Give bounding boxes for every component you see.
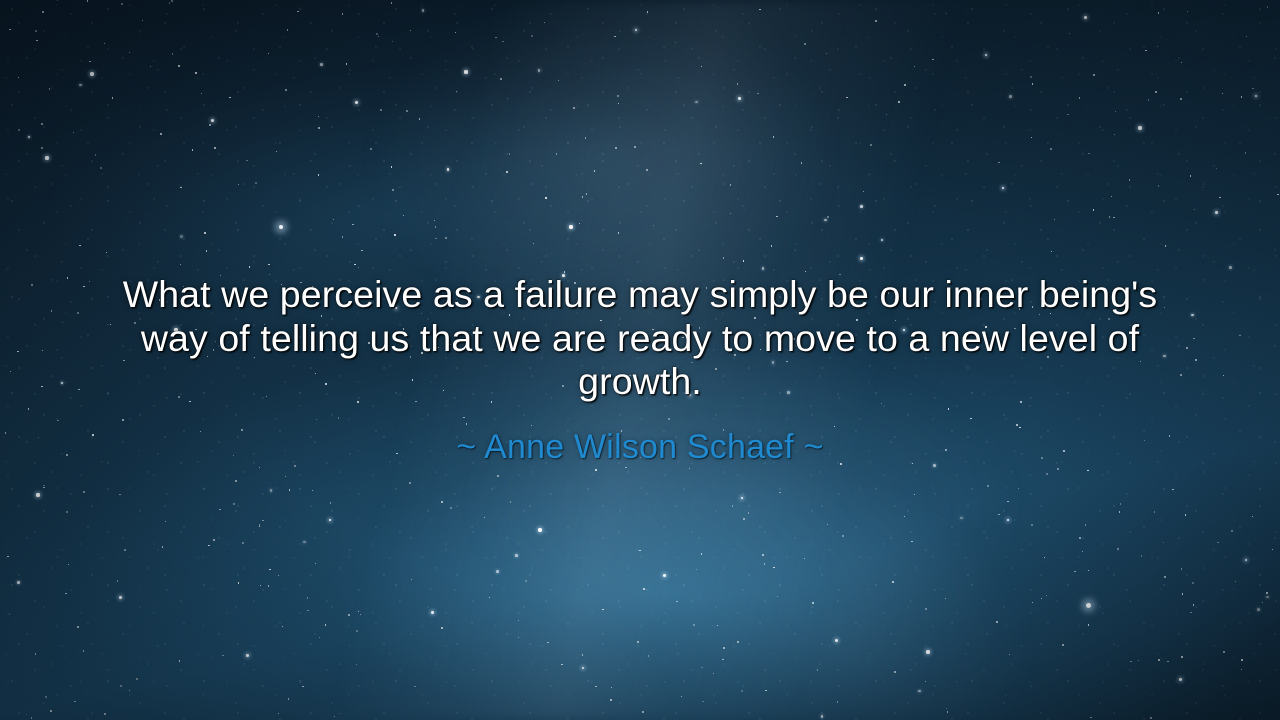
- star: [757, 93, 758, 94]
- star: [748, 512, 749, 513]
- star: [79, 84, 82, 87]
- star: [376, 33, 378, 35]
- star: [538, 69, 541, 72]
- star: [411, 579, 412, 580]
- star: [732, 505, 733, 506]
- star: [898, 101, 899, 102]
- star: [90, 72, 94, 76]
- star: [392, 189, 393, 190]
- star: [441, 501, 442, 502]
- star: [355, 101, 358, 104]
- star: [743, 518, 745, 520]
- star: [222, 655, 223, 656]
- star: [209, 124, 211, 126]
- star: [1148, 99, 1149, 100]
- star: [1002, 187, 1005, 190]
- star: [625, 467, 626, 468]
- star: [219, 509, 220, 510]
- star: [204, 232, 205, 233]
- star: [43, 485, 44, 486]
- star: [233, 503, 234, 504]
- quote-block: What we perceive as a failure may simply…: [0, 273, 1280, 467]
- star: [610, 699, 611, 700]
- star: [911, 541, 912, 542]
- star: [1217, 542, 1218, 543]
- star: [41, 123, 42, 124]
- star: [119, 494, 120, 495]
- star: [1187, 11, 1188, 12]
- star: [1051, 251, 1052, 252]
- star: [1231, 530, 1233, 532]
- star: [83, 491, 85, 493]
- star: [1157, 46, 1158, 47]
- star: [441, 627, 443, 629]
- star: [242, 542, 244, 544]
- star: [1267, 6, 1268, 7]
- star: [573, 107, 575, 109]
- star: [518, 620, 519, 621]
- star: [614, 36, 615, 37]
- star: [1192, 582, 1193, 583]
- star: [229, 97, 230, 98]
- star: [1181, 656, 1182, 657]
- star: [171, 0, 172, 1]
- star: [723, 647, 725, 649]
- star: [525, 580, 527, 582]
- star: [100, 167, 102, 169]
- quote-slide: What we perceive as a failure may simply…: [0, 0, 1280, 720]
- star: [307, 610, 308, 611]
- star: [41, 147, 43, 149]
- star: [538, 528, 541, 531]
- star: [172, 53, 173, 54]
- star: [17, 581, 20, 584]
- star: [881, 239, 884, 242]
- star: [643, 588, 645, 590]
- star: [391, 166, 392, 167]
- star: [634, 146, 635, 147]
- star: [801, 162, 802, 163]
- star: [50, 710, 52, 712]
- star: [582, 667, 585, 670]
- star: [1172, 489, 1173, 490]
- star: [741, 690, 743, 692]
- star: [95, 154, 96, 155]
- star: [1007, 519, 1010, 522]
- star: [43, 487, 44, 488]
- star: [639, 550, 640, 551]
- star: [531, 35, 533, 37]
- star: [150, 66, 151, 67]
- star: [356, 664, 357, 665]
- star: [1241, 96, 1242, 97]
- star: [569, 225, 572, 228]
- star: [1193, 604, 1194, 605]
- star: [1062, 644, 1064, 646]
- star: [1229, 266, 1232, 269]
- star: [422, 9, 425, 12]
- star: [509, 153, 510, 154]
- star: [701, 66, 702, 67]
- star: [737, 83, 738, 84]
- star: [1190, 612, 1191, 613]
- star: [1079, 537, 1081, 539]
- star: [270, 489, 273, 492]
- star: [1086, 603, 1091, 608]
- star: [737, 641, 739, 643]
- star: [635, 29, 638, 32]
- star: [1277, 194, 1278, 195]
- star: [827, 216, 828, 217]
- star: [178, 65, 179, 66]
- star: [180, 264, 181, 265]
- star: [259, 467, 260, 468]
- star: [985, 54, 988, 57]
- star: [558, 80, 559, 81]
- star: [730, 184, 731, 185]
- star: [45, 696, 46, 697]
- star: [926, 650, 929, 653]
- star: [507, 98, 508, 99]
- star: [932, 59, 933, 60]
- star: [192, 149, 193, 150]
- star: [804, 43, 806, 45]
- star: [777, 596, 778, 597]
- star: [925, 608, 926, 609]
- star: [647, 11, 648, 12]
- star: [1054, 219, 1055, 220]
- star: [618, 232, 619, 233]
- star: [875, 20, 877, 22]
- star: [235, 480, 236, 481]
- star: [495, 37, 496, 38]
- star: [287, 29, 288, 30]
- star: [1090, 717, 1091, 718]
- star: [1245, 559, 1248, 562]
- star: [35, 30, 37, 32]
- star: [1219, 197, 1220, 198]
- star: [846, 97, 847, 98]
- star: [1255, 95, 1258, 98]
- star: [1088, 153, 1089, 154]
- star: [307, 597, 308, 598]
- star: [681, 696, 682, 697]
- star: [1180, 98, 1182, 100]
- star: [9, 614, 10, 615]
- star: [57, 0, 58, 1]
- star: [330, 502, 331, 503]
- star: [544, 22, 545, 23]
- star: [68, 564, 69, 565]
- star: [120, 685, 121, 686]
- star: [582, 654, 583, 655]
- star: [278, 575, 279, 576]
- star: [1194, 209, 1195, 210]
- star: [1190, 175, 1191, 176]
- star: [352, 224, 353, 225]
- star: [701, 667, 702, 668]
- star: [1119, 511, 1120, 512]
- star: [249, 266, 250, 267]
- star: [356, 630, 358, 632]
- star: [1163, 542, 1164, 543]
- star: [762, 554, 764, 556]
- star: [162, 546, 163, 547]
- star: [738, 97, 741, 100]
- star: [1241, 659, 1242, 660]
- star: [1030, 76, 1032, 78]
- star: [713, 673, 714, 674]
- star: [1088, 624, 1089, 625]
- star: [1257, 608, 1260, 611]
- star: [1216, 168, 1217, 169]
- star: [826, 53, 827, 54]
- star: [201, 93, 202, 94]
- star: [419, 118, 420, 119]
- star: [762, 267, 765, 270]
- star: [282, 626, 283, 627]
- star: [1046, 473, 1047, 474]
- star: [702, 701, 703, 702]
- star: [289, 489, 290, 490]
- star: [894, 671, 896, 673]
- star: [180, 235, 183, 238]
- star: [717, 625, 718, 626]
- star: [827, 524, 828, 525]
- star: [238, 582, 239, 583]
- star: [1120, 503, 1121, 504]
- star: [79, 245, 80, 246]
- star: [1150, 717, 1151, 718]
- star: [238, 184, 239, 185]
- star: [1266, 596, 1269, 599]
- star: [342, 236, 343, 237]
- star: [1215, 211, 1218, 214]
- star: [409, 482, 410, 483]
- star: [764, 563, 765, 564]
- star: [414, 686, 415, 687]
- star: [946, 708, 947, 709]
- star: [1158, 185, 1159, 186]
- star: [87, 0, 88, 1]
- star: [378, 36, 379, 37]
- star: [370, 148, 371, 149]
- star: [259, 526, 260, 527]
- star: [1082, 551, 1083, 552]
- star: [1041, 598, 1042, 599]
- star: [391, 2, 392, 3]
- star: [870, 144, 872, 146]
- star: [533, 243, 534, 244]
- star: [1181, 568, 1182, 569]
- star: [1181, 62, 1182, 63]
- star: [142, 20, 143, 21]
- star: [730, 213, 731, 214]
- star: [1154, 511, 1155, 512]
- star: [318, 127, 320, 129]
- star: [334, 716, 335, 717]
- star: [403, 215, 404, 216]
- star: [312, 490, 313, 491]
- quote-attribution: ~ Anne Wilson Schaef ~: [0, 427, 1280, 467]
- star: [594, 170, 595, 171]
- star: [585, 137, 586, 138]
- star: [269, 569, 270, 570]
- star: [1117, 548, 1119, 550]
- star: [675, 42, 676, 43]
- star: [66, 511, 68, 513]
- star: [502, 41, 503, 42]
- star: [1158, 659, 1160, 661]
- star: [318, 116, 319, 117]
- star: [556, 153, 557, 154]
- star: [611, 687, 612, 688]
- star: [360, 614, 361, 615]
- star: [1067, 114, 1068, 115]
- star: [701, 553, 702, 554]
- star: [136, 678, 137, 679]
- star: [255, 182, 257, 184]
- star: [288, 698, 289, 699]
- star: [484, 517, 485, 518]
- star: [515, 554, 518, 557]
- star: [104, 43, 105, 44]
- star: [104, 713, 106, 715]
- star: [1093, 74, 1094, 75]
- star: [1009, 654, 1010, 655]
- star: [722, 659, 723, 660]
- star: [617, 95, 618, 96]
- star: [561, 664, 562, 665]
- star: [358, 611, 359, 612]
- star: [1185, 514, 1186, 515]
- star: [1057, 468, 1059, 470]
- star: [1074, 571, 1075, 572]
- star: [83, 650, 84, 651]
- star: [960, 517, 963, 520]
- star: [1241, 669, 1242, 670]
- star: [904, 516, 905, 517]
- star: [1032, 83, 1033, 84]
- star: [1165, 245, 1166, 246]
- star: [45, 156, 48, 159]
- star: [1032, 602, 1033, 603]
- star: [165, 521, 166, 522]
- star: [595, 686, 596, 687]
- star: [206, 250, 207, 251]
- star: [860, 205, 863, 208]
- star: [74, 701, 75, 702]
- star: [117, 580, 118, 581]
- star: [329, 519, 332, 522]
- star: [1031, 137, 1032, 138]
- star: [89, 61, 90, 62]
- star: [586, 193, 587, 194]
- star: [1138, 660, 1139, 661]
- star: [1235, 581, 1236, 582]
- star: [214, 147, 216, 149]
- star: [319, 637, 320, 638]
- star: [812, 602, 814, 604]
- star: [1079, 97, 1080, 98]
- star: [914, 66, 915, 67]
- star: [835, 639, 838, 642]
- star: [318, 174, 319, 175]
- star: [489, 597, 490, 598]
- star: [663, 574, 666, 577]
- star: [380, 109, 382, 111]
- star: [392, 41, 393, 42]
- star: [1252, 516, 1253, 517]
- star: [112, 97, 113, 98]
- star: [918, 690, 921, 693]
- star: [615, 147, 616, 148]
- star: [947, 711, 948, 712]
- star: [1222, 93, 1223, 94]
- star: [1129, 179, 1130, 180]
- star: [346, 63, 347, 64]
- star: [723, 257, 724, 258]
- star: [49, 88, 50, 89]
- star: [892, 581, 894, 583]
- star: [996, 621, 998, 623]
- star: [410, 30, 411, 31]
- star: [618, 103, 619, 104]
- star: [195, 72, 196, 73]
- star: [693, 624, 695, 626]
- star: [315, 563, 316, 564]
- star: [500, 78, 502, 80]
- star: [65, 593, 66, 594]
- star: [1031, 524, 1032, 525]
- star: [1130, 661, 1131, 662]
- star: [1046, 595, 1047, 596]
- star: [595, 469, 596, 470]
- star: [179, 660, 180, 661]
- star: [456, 91, 457, 92]
- star: [914, 494, 915, 495]
- star: [73, 132, 74, 133]
- star: [129, 52, 130, 53]
- star: [1084, 16, 1087, 19]
- star: [246, 654, 249, 657]
- star: [700, 163, 701, 164]
- star: [31, 717, 32, 718]
- star: [348, 614, 349, 615]
- star: [689, 468, 690, 469]
- star: [354, 264, 355, 265]
- star: [1252, 88, 1253, 89]
- star: [648, 655, 649, 656]
- star: [1093, 209, 1094, 210]
- star: [676, 601, 677, 602]
- star: [160, 133, 161, 134]
- star: [987, 485, 988, 486]
- star: [1111, 196, 1112, 197]
- star: [817, 669, 818, 670]
- star: [180, 187, 181, 188]
- star: [1138, 126, 1141, 129]
- star: [124, 549, 126, 551]
- star: [36, 493, 39, 496]
- star: [945, 598, 946, 599]
- star: [435, 238, 436, 239]
- star: [547, 642, 548, 643]
- star: [279, 225, 283, 229]
- star: [773, 136, 774, 137]
- star: [1114, 134, 1115, 135]
- star: [642, 711, 644, 713]
